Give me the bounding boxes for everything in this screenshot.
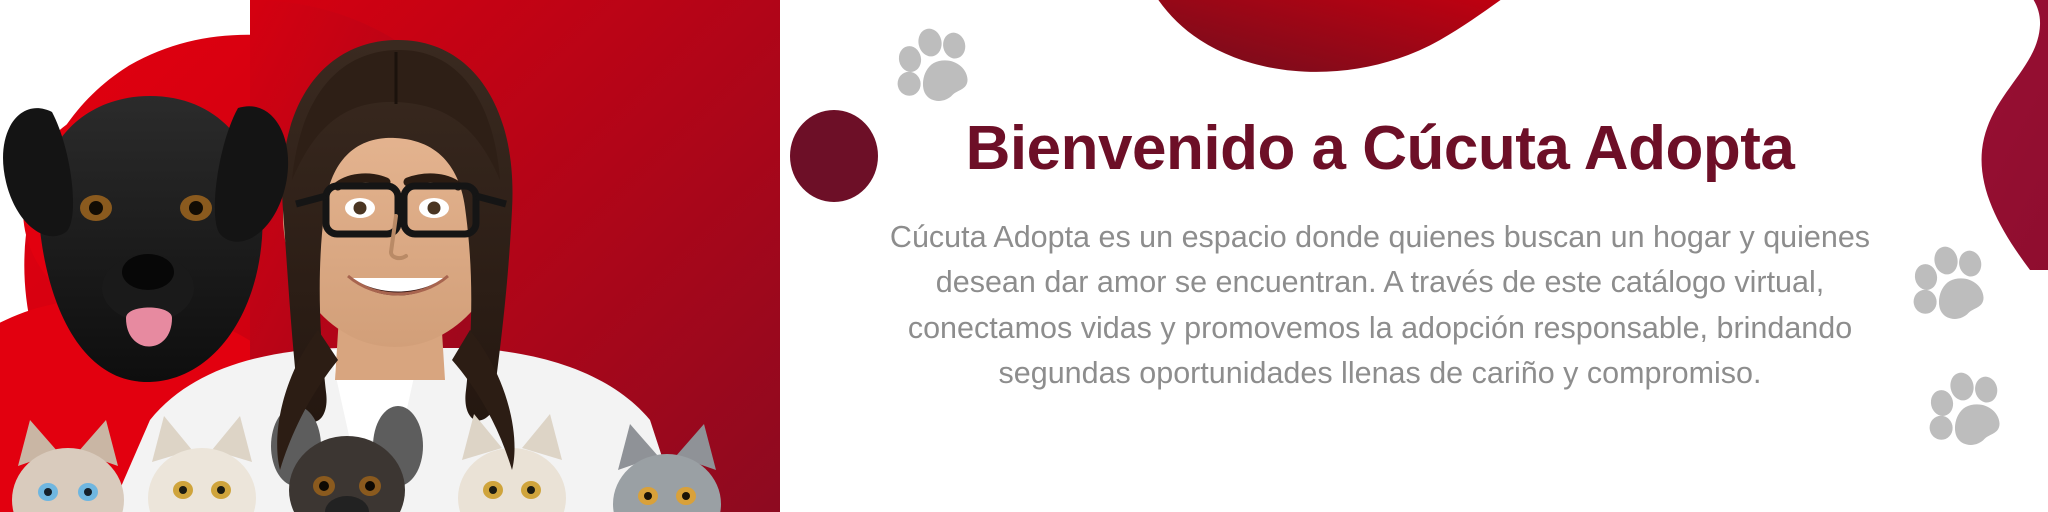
hero-photo-illustration [0, 0, 780, 512]
hero-description: Cúcuta Adopta es un espacio donde quiene… [850, 215, 1910, 396]
paw-print-icon-bottom-right [1924, 372, 2010, 448]
hero-text-column: Bienvenido a Cúcuta Adopta Cúcuta Adopta… [840, 0, 1920, 512]
page-title: Bienvenido a Cúcuta Adopta [966, 116, 1795, 181]
hero-photo [0, 0, 780, 512]
hero-banner: Bienvenido a Cúcuta Adopta Cúcuta Adopta… [0, 0, 2048, 512]
black-dog [3, 96, 288, 382]
siamese-cat [12, 420, 124, 512]
paw-print-icon-middle-right [1908, 246, 1994, 322]
